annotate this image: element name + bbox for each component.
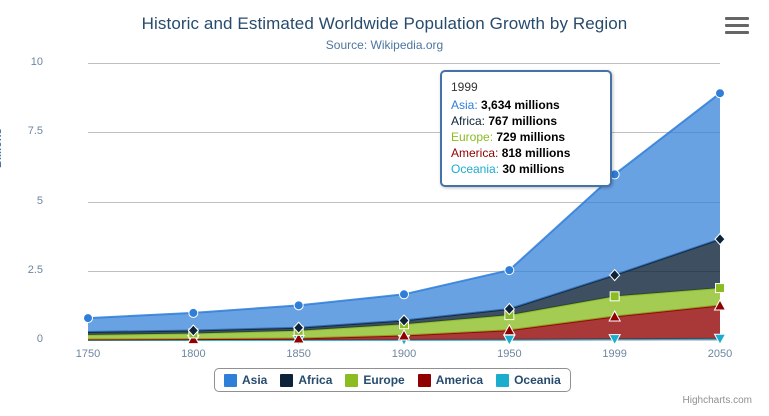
- x-axis-tick-label: 1850: [286, 348, 310, 360]
- legend-label: Europe: [363, 373, 404, 387]
- tooltip-series-value: 729 millions: [496, 130, 565, 144]
- legend-item-oceania[interactable]: Oceania: [496, 373, 561, 387]
- hamburger-bar: [725, 24, 749, 27]
- tooltip-series-value: 30 millions: [502, 162, 564, 176]
- y-axis-tick-label: 7.5: [9, 125, 43, 137]
- y-axis-tick-label: 10: [9, 56, 43, 68]
- tooltip-series-name: Oceania:: [451, 162, 502, 176]
- chart-subtitle: Source: Wikipedia.org: [0, 38, 769, 52]
- x-axis-tick-label: 1900: [392, 348, 416, 360]
- chart-title: Historic and Estimated Worldwide Populat…: [0, 14, 769, 34]
- y-axis-tick-label: 0: [9, 333, 43, 345]
- tooltip: 1999 Asia: 3,634 millionsAfrica: 767 mil…: [440, 70, 612, 187]
- y-axis-title: Billions: [0, 128, 4, 168]
- y-axis-tick-label: 2.5: [9, 264, 43, 276]
- legend-item-africa[interactable]: Africa: [280, 373, 332, 387]
- hamburger-bar: [725, 31, 749, 34]
- legend-swatch-icon: [496, 374, 509, 387]
- tooltip-row-oceania: Oceania: 30 millions: [451, 161, 601, 177]
- legend-label: Oceania: [514, 373, 561, 387]
- data-point-asia-1950[interactable]: [505, 266, 514, 275]
- y-axis-tick-label: 5: [9, 195, 43, 207]
- data-point-asia-1800[interactable]: [189, 308, 198, 317]
- x-axis-tick-label: 1999: [602, 348, 626, 360]
- legend-swatch-icon: [418, 374, 431, 387]
- hamburger-bar: [725, 17, 749, 20]
- legend: AsiaAfricaEuropeAmericaOceania: [214, 368, 571, 392]
- tooltip-series-name: Africa:: [451, 114, 488, 128]
- data-point-asia-1750[interactable]: [84, 314, 93, 323]
- legend-label: America: [436, 373, 483, 387]
- x-axis-tick-label: 1950: [497, 348, 521, 360]
- credits-label: Highcharts.com: [683, 395, 752, 406]
- legend-label: Africa: [298, 373, 332, 387]
- legend-item-europe[interactable]: Europe: [345, 373, 404, 387]
- legend-label: Asia: [242, 373, 267, 387]
- data-point-asia-2050[interactable]: [716, 89, 725, 98]
- highcharts-container: Historic and Estimated Worldwide Populat…: [0, 0, 769, 416]
- tooltip-row-africa: Africa: 767 millions: [451, 113, 601, 129]
- legend-swatch-icon: [280, 374, 293, 387]
- tooltip-series-name: America:: [451, 146, 502, 160]
- tooltip-header: 1999: [451, 79, 601, 95]
- tooltip-series-name: Asia:: [451, 98, 481, 112]
- tooltip-series-name: Europe:: [451, 130, 496, 144]
- tooltip-row-europe: Europe: 729 millions: [451, 129, 601, 145]
- legend-swatch-icon: [224, 374, 237, 387]
- tooltip-series-value: 818 millions: [502, 146, 571, 160]
- tooltip-row-america: America: 818 millions: [451, 145, 601, 161]
- tooltip-rows: Asia: 3,634 millionsAfrica: 767 millions…: [451, 97, 601, 177]
- legend-item-asia[interactable]: Asia: [224, 373, 267, 387]
- data-point-europe-2050[interactable]: [716, 284, 725, 293]
- data-point-asia-1900[interactable]: [400, 290, 409, 299]
- data-point-asia-1850[interactable]: [294, 301, 303, 310]
- tooltip-series-value: 767 millions: [488, 114, 557, 128]
- series-layer: [88, 63, 720, 340]
- hamburger-menu-icon[interactable]: [725, 17, 749, 35]
- x-axis-tick-label: 2050: [708, 348, 732, 360]
- tooltip-series-value: 3,634 millions: [481, 98, 560, 112]
- tooltip-row-asia: Asia: 3,634 millions: [451, 97, 601, 113]
- x-axis-tick-label: 1750: [76, 348, 100, 360]
- x-axis-tick-label: 1800: [181, 348, 205, 360]
- legend-swatch-icon: [345, 374, 358, 387]
- legend-item-america[interactable]: America: [418, 373, 483, 387]
